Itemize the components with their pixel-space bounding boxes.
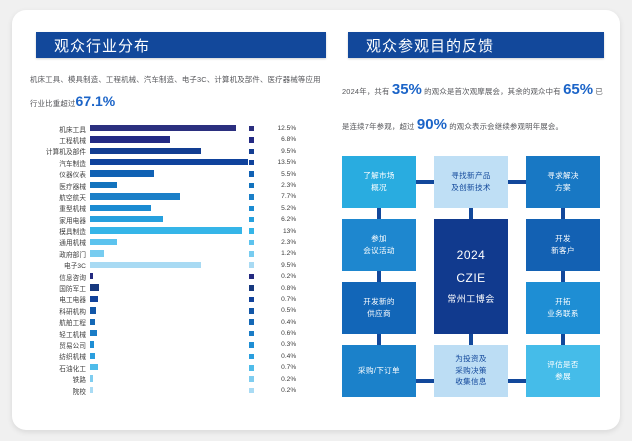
chart-row-label: 石油化工 — [30, 363, 90, 373]
diagram-cell-line: 方案 — [555, 182, 571, 194]
chart-row-label: 贸易公司 — [30, 340, 90, 350]
chart-row: 仪器仪表5.5% — [30, 168, 326, 179]
diagram-cell-line: 了解市场 — [363, 170, 395, 182]
chart-bar — [90, 159, 248, 165]
chart-row: 计算机及部件9.5% — [30, 146, 326, 157]
diagram-connector-vertical — [561, 208, 565, 219]
chart-value-label: 0.2% — [262, 387, 298, 394]
chart-legend-entry: 13% — [243, 228, 326, 235]
chart-value-label: 5.2% — [262, 205, 298, 212]
legend-swatch-icon — [249, 160, 255, 166]
chart-row: 信息咨询0.2% — [30, 271, 326, 282]
chart-legend-entry: 0.7% — [243, 364, 326, 371]
chart-row: 电工电器0.7% — [30, 294, 326, 305]
diagram-connector-vertical — [469, 334, 473, 345]
chart-bar-track — [90, 260, 243, 271]
diagram-connector-vertical — [377, 334, 381, 345]
chart-row-label: 政府部门 — [30, 249, 90, 259]
visitor-purpose-diagram: 了解市场概况寻找新产品及创新技术寻求解决方案参加会议活动开发新客户开发新的供应商… — [342, 156, 600, 396]
chart-row-label: 航空航天 — [30, 192, 90, 202]
legend-swatch-icon — [249, 171, 255, 177]
chart-bar — [90, 193, 180, 199]
diagram-cell-expand-contacts[interactable]: 开拓业务联系 — [526, 282, 600, 334]
chart-bar-track — [90, 191, 243, 202]
right-banner-wrap: 观众参观目的反馈 — [342, 32, 604, 58]
left-banner-wrap: 观众行业分布 — [30, 32, 326, 58]
diagram-connector-vertical — [561, 334, 565, 345]
legend-swatch-icon — [249, 365, 255, 371]
chart-bar — [90, 262, 201, 268]
diagram-cell-line: 寻求解决 — [547, 170, 579, 182]
chart-row: 院校0.2% — [30, 385, 326, 396]
chart-row: 轻工机械0.6% — [30, 328, 326, 339]
content-card: 观众行业分布 机床工具、模具制造、工程机械、汽车制造、电子3C、计算机及部件、医… — [12, 10, 620, 430]
chart-row-label: 国防军工 — [30, 283, 90, 293]
industry-distribution-panel: 观众行业分布 机床工具、模具制造、工程机械、汽车制造、电子3C、计算机及部件、医… — [30, 32, 326, 418]
chart-row: 国防军工0.8% — [30, 282, 326, 293]
legend-swatch-icon — [249, 342, 255, 348]
visitor-purpose-panel: 观众参观目的反馈 2024年，共有 35% 的观众是首次观摩展会，其余的观众中有… — [342, 32, 604, 418]
chart-row-label: 电子3C — [30, 260, 90, 270]
diagram-connector-vertical — [377, 271, 381, 282]
chart-bar-track — [90, 271, 243, 282]
chart-legend-entry: 9.5% — [243, 148, 326, 155]
chart-row: 贸易公司0.3% — [30, 339, 326, 350]
chart-legend-entry: 0.4% — [243, 353, 326, 360]
right-panel-title: 观众参观目的反馈 — [348, 32, 604, 58]
legend-swatch-icon — [249, 388, 255, 394]
chart-legend-entry: 13.5% — [243, 159, 326, 166]
chart-legend-entry: 5.5% — [243, 171, 326, 178]
chart-bar — [90, 136, 170, 142]
chart-value-label: 6.2% — [262, 216, 298, 223]
chart-row: 重型机械5.2% — [30, 203, 326, 214]
chart-row: 纺织机械0.4% — [30, 351, 326, 362]
chart-row-label: 家用电器 — [30, 215, 90, 225]
chart-row: 医疗器械2.3% — [30, 180, 326, 191]
stat-first-time-visitors: 35% — [392, 81, 422, 98]
center-cell-line2: CZIE — [456, 267, 485, 290]
diagram-cell-develop-customers[interactable]: 开发新客户 — [526, 219, 600, 271]
diagram-connector-vertical — [561, 271, 565, 282]
chart-bar — [90, 341, 94, 347]
diagram-cell-line: 会议活动 — [363, 245, 395, 257]
chart-bar-track — [90, 294, 243, 305]
legend-swatch-icon — [249, 285, 255, 291]
page-root: 观众行业分布 机床工具、模具制造、工程机械、汽车制造、电子3C、计算机及部件、医… — [0, 0, 632, 441]
chart-bar — [90, 239, 117, 245]
legend-swatch-icon — [249, 194, 255, 200]
chart-value-label: 7.7% — [262, 193, 298, 200]
chart-value-label: 2.3% — [262, 182, 298, 189]
intro-part-2: 的观众是首次观摩展会，其余的观众中有 — [424, 87, 561, 96]
chart-row: 工程机械6.8% — [30, 134, 326, 145]
chart-bar — [90, 330, 97, 336]
diagram-cell-line: 采购决策 — [455, 365, 487, 377]
legend-swatch-icon — [249, 262, 255, 268]
diagram-cell-collect-info[interactable]: 为投资及采购决策收集信息 — [434, 345, 508, 397]
chart-value-label: 0.5% — [262, 307, 298, 314]
chart-row: 航空航天7.7% — [30, 191, 326, 202]
legend-swatch-icon — [249, 308, 255, 314]
chart-value-label: 9.5% — [262, 262, 298, 269]
chart-row-label: 电工电器 — [30, 294, 90, 304]
chart-bar — [90, 375, 93, 381]
chart-row-label: 纺织机械 — [30, 351, 90, 361]
chart-bar — [90, 353, 95, 359]
chart-legend-entry: 12.5% — [243, 125, 326, 132]
legend-swatch-icon — [249, 319, 255, 325]
diagram-connector-vertical — [469, 208, 473, 219]
chart-row-label: 工程机械 — [30, 135, 90, 145]
chart-value-label: 0.8% — [262, 285, 298, 292]
legend-swatch-icon — [249, 297, 255, 303]
chart-legend-entry: 2.3% — [243, 239, 326, 246]
diagram-cell-understand-market[interactable]: 了解市场概况 — [342, 156, 416, 208]
chart-value-label: 12.5% — [262, 125, 298, 132]
chart-bar — [90, 364, 98, 370]
diagram-cell-line: 参展 — [555, 371, 571, 383]
chart-row-label: 航舶工程 — [30, 317, 90, 327]
chart-bar — [90, 216, 163, 222]
chart-bar-track — [90, 180, 243, 191]
diagram-cell-line: 为投资及 — [455, 353, 487, 365]
chart-legend-entry: 0.4% — [243, 319, 326, 326]
chart-bar-track — [90, 225, 243, 236]
chart-value-label: 0.4% — [262, 353, 298, 360]
chart-legend-entry: 0.2% — [243, 387, 326, 394]
legend-swatch-icon — [249, 228, 255, 234]
chart-value-label: 0.7% — [262, 296, 298, 303]
chart-bar-track — [90, 373, 243, 384]
chart-row: 家用电器6.2% — [30, 214, 326, 225]
chart-legend-entry: 0.2% — [243, 376, 326, 383]
chart-legend-entry: 1.2% — [243, 250, 326, 257]
chart-bar-track — [90, 168, 243, 179]
diagram-cell-evaluate-exhibit[interactable]: 评估是否参展 — [526, 345, 600, 397]
chart-legend-entry: 6.8% — [243, 136, 326, 143]
legend-swatch-icon — [249, 240, 255, 246]
chart-row-label: 铁路 — [30, 374, 90, 384]
chart-bar-track — [90, 146, 243, 157]
legend-swatch-icon — [249, 126, 255, 132]
chart-value-label: 2.3% — [262, 239, 298, 246]
chart-bar-track — [90, 317, 243, 328]
chart-bar — [90, 205, 151, 211]
chart-row: 航舶工程0.4% — [30, 317, 326, 328]
legend-swatch-icon — [249, 183, 255, 189]
chart-row-label: 院校 — [30, 386, 90, 396]
chart-row-label: 通用机械 — [30, 237, 90, 247]
chart-bar-track — [90, 237, 243, 248]
chart-value-label: 0.7% — [262, 364, 298, 371]
chart-bar — [90, 284, 99, 290]
chart-row: 机床工具12.5% — [30, 123, 326, 134]
chart-legend-entry: 0.6% — [243, 330, 326, 337]
chart-row-label: 机床工具 — [30, 124, 90, 134]
chart-legend-entry: 9.5% — [243, 262, 326, 269]
chart-row-label: 信息咨询 — [30, 272, 90, 282]
legend-swatch-icon — [249, 274, 255, 280]
stat-return-next-year: 90% — [417, 116, 447, 133]
chart-legend-entry: 0.3% — [243, 341, 326, 348]
chart-row: 模具制造13% — [30, 225, 326, 236]
chart-legend-entry: 0.2% — [243, 273, 326, 280]
intro-part-1: 2024年，共有 — [342, 87, 390, 96]
chart-value-label: 0.2% — [262, 273, 298, 280]
center-cell-line3: 常州工博会 — [447, 290, 495, 308]
chart-bar-track — [90, 214, 243, 225]
chart-bar — [90, 387, 93, 393]
legend-swatch-icon — [249, 331, 255, 337]
chart-row-label: 重型机械 — [30, 203, 90, 213]
chart-legend-entry: 5.2% — [243, 205, 326, 212]
chart-bar — [90, 307, 96, 313]
diagram-cell-line: 开发新的 — [363, 296, 395, 308]
diagram-cell-line: 参加 — [371, 233, 387, 245]
legend-swatch-icon — [249, 217, 255, 223]
chart-row-label: 计算机及部件 — [30, 146, 90, 156]
chart-legend-entry: 6.2% — [243, 216, 326, 223]
diagram-connector-horizontal — [416, 379, 434, 383]
diagram-cell-line: 开发 — [555, 233, 571, 245]
chart-legend-entry: 0.5% — [243, 307, 326, 314]
chart-bar-track — [90, 203, 243, 214]
chart-row: 汽车制造13.5% — [30, 157, 326, 168]
chart-legend-entry: 0.8% — [243, 285, 326, 292]
chart-bar — [90, 125, 236, 131]
right-panel-intro: 2024年，共有 35% 的观众是首次观摩展会，其余的观众中有 65% 已是连续… — [342, 72, 604, 143]
chart-row: 电子3C9.5% — [30, 260, 326, 271]
chart-value-label: 0.6% — [262, 330, 298, 337]
diagram-center-cell: 2024CZIE常州工博会 — [434, 219, 508, 334]
chart-value-label: 1.2% — [262, 250, 298, 257]
diagram-cell-line: 评估是否 — [547, 359, 579, 371]
chart-value-label: 0.4% — [262, 319, 298, 326]
diagram-cell-line: 开拓 — [555, 296, 571, 308]
chart-row-label: 汽车制造 — [30, 158, 90, 168]
chart-bar-track — [90, 305, 243, 316]
diagram-cell-purchase-order[interactable]: 采购/下订单 — [342, 345, 416, 397]
left-panel-title: 观众行业分布 — [36, 32, 326, 58]
chart-bar — [90, 273, 93, 279]
chart-bar-track — [90, 123, 243, 134]
chart-bar-track — [90, 362, 243, 373]
chart-value-label: 6.8% — [262, 136, 298, 143]
chart-value-label: 9.5% — [262, 148, 298, 155]
diagram-connector-horizontal — [508, 379, 526, 383]
stat-repeat-visitors: 65% — [563, 81, 593, 98]
chart-bar — [90, 148, 201, 154]
chart-bar-track — [90, 157, 243, 168]
diagram-connector-vertical — [377, 208, 381, 219]
chart-bar — [90, 170, 154, 176]
chart-legend-entry: 2.3% — [243, 182, 326, 189]
chart-row-label: 仪器仪表 — [30, 169, 90, 179]
left-panel-intro: 机床工具、模具制造、工程机械、汽车制造、电子3C、计算机及部件、医疗器械等应用行… — [30, 72, 326, 116]
intro-highlight-value: 67.1% — [76, 93, 116, 109]
chart-row-label: 科研机构 — [30, 306, 90, 316]
chart-value-label: 13.5% — [262, 159, 298, 166]
chart-bar — [90, 227, 242, 233]
diagram-cell-line: 新客户 — [551, 245, 575, 257]
industry-bar-chart: 机床工具12.5%工程机械6.8%计算机及部件9.5%汽车制造13.5%仪器仪表… — [30, 123, 326, 396]
chart-bar — [90, 319, 95, 325]
diagram-cell-line: 供应商 — [367, 308, 391, 320]
legend-swatch-icon — [249, 251, 255, 257]
legend-swatch-icon — [249, 376, 255, 382]
chart-legend-entry: 0.7% — [243, 296, 326, 303]
intro-part-4: 的观众表示会继续参观明年展会。 — [449, 122, 563, 131]
chart-bar — [90, 182, 117, 188]
legend-swatch-icon — [249, 206, 255, 212]
chart-bar-track — [90, 134, 243, 145]
legend-swatch-icon — [249, 149, 255, 155]
chart-row: 科研机构0.5% — [30, 305, 326, 316]
diagram-cell-line: 概况 — [371, 182, 387, 194]
center-cell-line1: 2024 — [457, 244, 486, 267]
chart-row: 政府部门1.2% — [30, 248, 326, 259]
chart-legend-entry: 7.7% — [243, 193, 326, 200]
legend-swatch-icon — [249, 137, 255, 143]
chart-row-label: 轻工机械 — [30, 329, 90, 339]
chart-value-label: 5.5% — [262, 171, 298, 178]
diagram-cell-line: 寻找新产品 — [451, 170, 490, 182]
chart-bar-track — [90, 282, 243, 293]
diagram-cell-seek-solutions[interactable]: 寻求解决方案 — [526, 156, 600, 208]
diagram-connector-horizontal — [508, 180, 526, 184]
chart-bar — [90, 250, 104, 256]
chart-row: 铁路0.2% — [30, 373, 326, 384]
chart-bar-track — [90, 328, 243, 339]
diagram-cell-line: 收集信息 — [455, 376, 487, 388]
chart-bar-track — [90, 385, 243, 396]
chart-row: 石油化工0.7% — [30, 362, 326, 373]
diagram-cell-find-new-products[interactable]: 寻找新产品及创新技术 — [434, 156, 508, 208]
chart-row: 通用机械2.3% — [30, 237, 326, 248]
chart-value-label: 0.3% — [262, 341, 298, 348]
legend-swatch-icon — [249, 354, 255, 360]
chart-value-label: 13% — [262, 228, 298, 235]
chart-row-label: 模具制造 — [30, 226, 90, 236]
chart-row-label: 医疗器械 — [30, 181, 90, 191]
diagram-connector-horizontal — [416, 180, 434, 184]
chart-bar-track — [90, 339, 243, 350]
intro-text: 机床工具、模具制造、工程机械、汽车制造、电子3C、计算机及部件、医疗器械等应用行… — [30, 75, 321, 108]
chart-bar — [90, 296, 98, 302]
diagram-cell-line: 采购/下订单 — [358, 365, 400, 377]
diagram-cell-line: 及创新技术 — [451, 182, 490, 194]
diagram-cell-attend-conference[interactable]: 参加会议活动 — [342, 219, 416, 271]
chart-bar-track — [90, 351, 243, 362]
diagram-cell-develop-suppliers[interactable]: 开发新的供应商 — [342, 282, 416, 334]
chart-value-label: 0.2% — [262, 376, 298, 383]
diagram-cell-line: 业务联系 — [547, 308, 579, 320]
chart-bar-track — [90, 248, 243, 259]
